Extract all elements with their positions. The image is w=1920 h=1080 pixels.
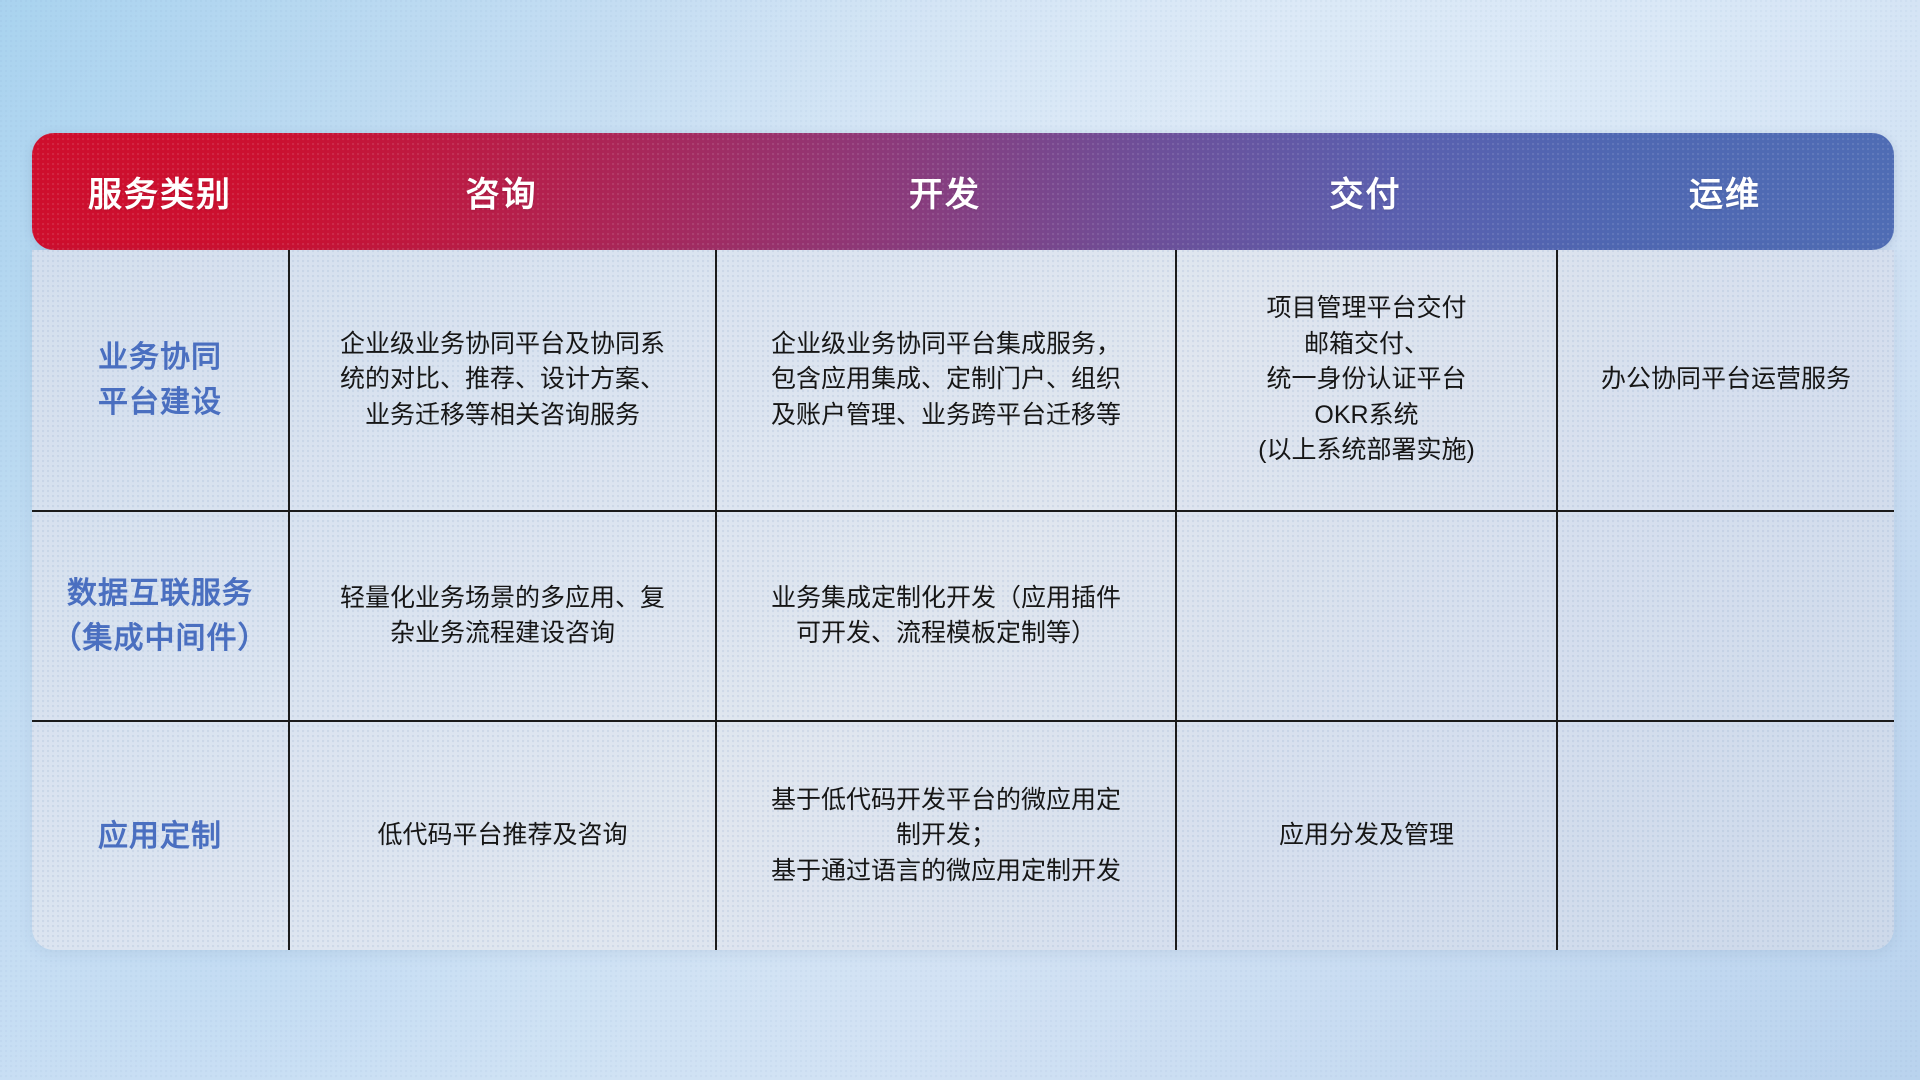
cell-delivery-row-1: 项目管理平台交付 邮箱交付、 统一身份认证平台 OKR系统 (以上系统部署实施) [1175, 250, 1556, 510]
cell-delivery-row-3: 应用分发及管理 [1175, 722, 1556, 950]
cell-delivery-row-2 [1175, 512, 1556, 720]
cell-operations-row-1: 办公协同平台运营服务 [1556, 250, 1894, 510]
column-header-operations: 运维 [1556, 133, 1894, 250]
column-header-delivery: 交付 [1175, 133, 1556, 250]
table-row: 业务协同 平台建设 企业级业务协同平台及协同系 统的对比、推荐、设计方案、 业务… [32, 250, 1894, 510]
cell-development-row-3: 基于低代码开发平台的微应用定 制开发； 基于通过语言的微应用定制开发 [715, 722, 1175, 950]
cell-consulting-row-2: 轻量化业务场景的多应用、复 杂业务流程建设咨询 [288, 512, 715, 720]
cell-operations-row-2 [1556, 512, 1894, 720]
table-row: 数据互联服务 （集成中间件） 轻量化业务场景的多应用、复 杂业务流程建设咨询 业… [32, 510, 1894, 720]
column-header-category: 服务类别 [32, 133, 288, 250]
table-header-row: 服务类别 咨询 开发 交付 运维 [32, 133, 1894, 250]
row-label-data-interconnect: 数据互联服务 （集成中间件） [32, 512, 288, 720]
cell-consulting-row-3: 低代码平台推荐及咨询 [288, 722, 715, 950]
cell-development-row-2: 业务集成定制化开发（应用插件 可开发、流程模板定制等） [715, 512, 1175, 720]
table-body: 业务协同 平台建设 企业级业务协同平台及协同系 统的对比、推荐、设计方案、 业务… [32, 250, 1894, 950]
column-header-development: 开发 [715, 133, 1175, 250]
cell-consulting-row-1: 企业级业务协同平台及协同系 统的对比、推荐、设计方案、 业务迁移等相关咨询服务 [288, 250, 715, 510]
cell-development-row-1: 企业级业务协同平台集成服务， 包含应用集成、定制门户、组织 及账户管理、业务跨平… [715, 250, 1175, 510]
service-matrix-table: 服务类别 咨询 开发 交付 运维 业务协同 平台建设 企业级业务协同平台及协同系… [32, 133, 1894, 950]
table-row: 应用定制 低代码平台推荐及咨询 基于低代码开发平台的微应用定 制开发； 基于通过… [32, 720, 1894, 950]
cell-operations-row-3 [1556, 722, 1894, 950]
row-label-business-collaboration: 业务协同 平台建设 [32, 250, 288, 510]
row-label-app-customization: 应用定制 [32, 722, 288, 950]
column-header-consulting: 咨询 [288, 133, 715, 250]
